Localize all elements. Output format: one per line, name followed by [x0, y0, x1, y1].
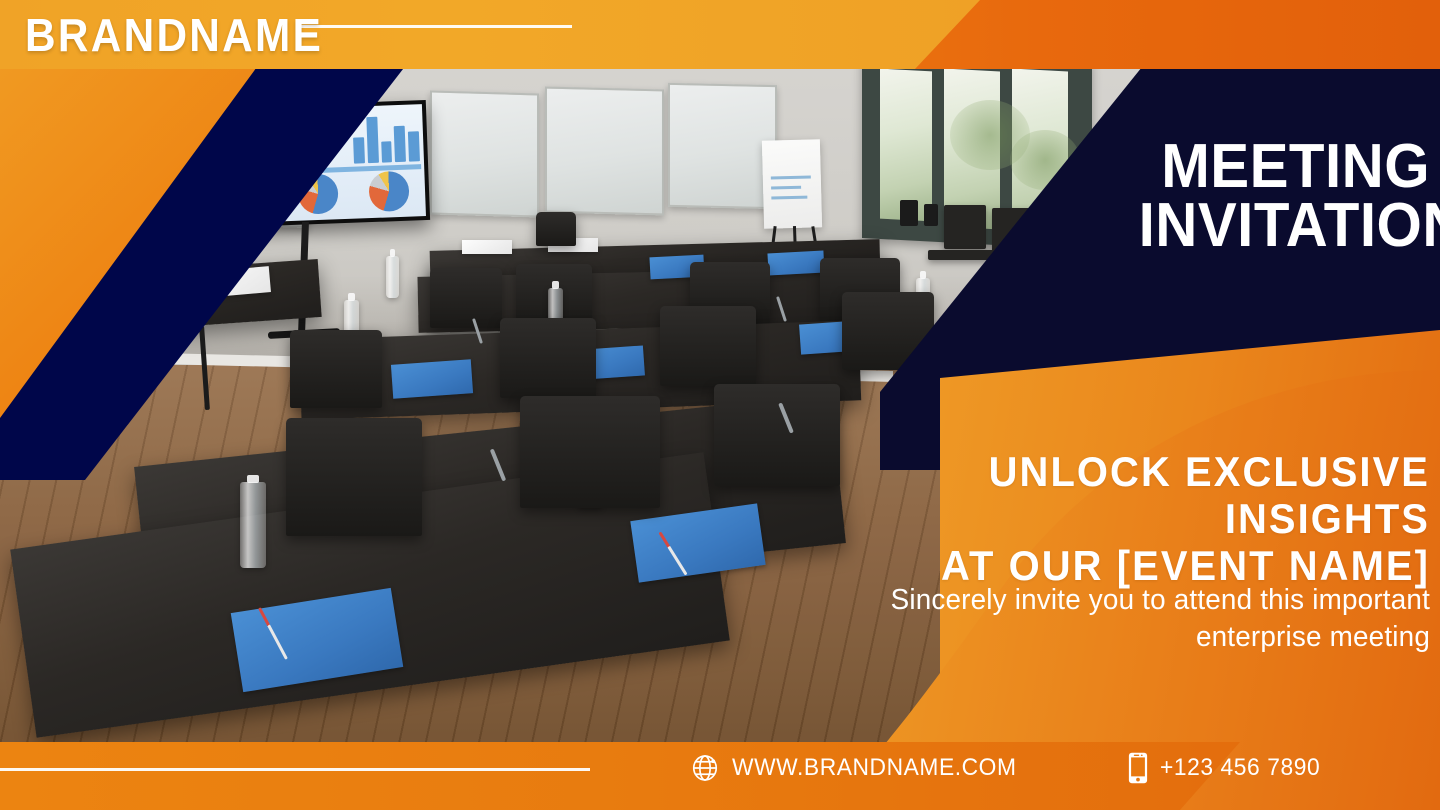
headline-line1: UNLOCK EXCLUSIVE INSIGHTS: [989, 448, 1430, 542]
chair: [286, 418, 422, 536]
wall-equipment: [924, 204, 938, 226]
brand-logo-text: BRANDNAME: [25, 8, 323, 62]
blue-folder: [391, 359, 473, 398]
blue-folder: [767, 251, 824, 276]
wall-equipment: [900, 200, 918, 226]
pie-chart: [369, 171, 410, 212]
smartphone-icon: [1128, 752, 1148, 784]
contact-row: WWW.BRANDNAME.COM +123 456 7890: [690, 752, 1328, 784]
page-title-line2: INVITATION: [1139, 197, 1430, 256]
meeting-invitation-poster: BRANDNAME MEETING INVITATION UNLOCK EXCL…: [0, 0, 1440, 810]
subtitle-line1: Sincerely invite you to attend this impo…: [891, 584, 1430, 616]
header-rule: [300, 25, 572, 28]
subtitle: Sincerely invite you to attend this impo…: [787, 582, 1430, 656]
whiteboard: [430, 90, 539, 217]
chair: [520, 396, 660, 508]
phone-contact[interactable]: +123 456 7890: [1128, 752, 1329, 784]
website-text: WWW.BRANDNAME.COM: [732, 754, 1017, 782]
chair: [500, 318, 596, 398]
stacked-chair: [944, 205, 986, 249]
chair: [536, 212, 576, 246]
page-title: MEETING INVITATION: [1139, 138, 1430, 256]
water-bottle: [386, 256, 399, 298]
name-card: [462, 240, 512, 254]
window-pane: [880, 69, 932, 222]
whiteboard: [668, 83, 777, 209]
subtitle-line2: enterprise meeting: [787, 619, 1430, 656]
flip-chart: [762, 139, 822, 228]
water-bottle: [240, 482, 266, 568]
phone-text: +123 456 7890: [1160, 754, 1320, 782]
whiteboard: [545, 87, 664, 216]
chair: [660, 306, 756, 386]
footer-rule: [0, 768, 590, 771]
chair: [430, 268, 502, 328]
headline: UNLOCK EXCLUSIVE INSIGHTS AT OUR [EVENT …: [851, 448, 1431, 589]
chair: [714, 384, 840, 486]
chair: [290, 330, 382, 408]
website-contact[interactable]: WWW.BRANDNAME.COM: [690, 753, 1032, 783]
globe-icon: [690, 753, 720, 783]
